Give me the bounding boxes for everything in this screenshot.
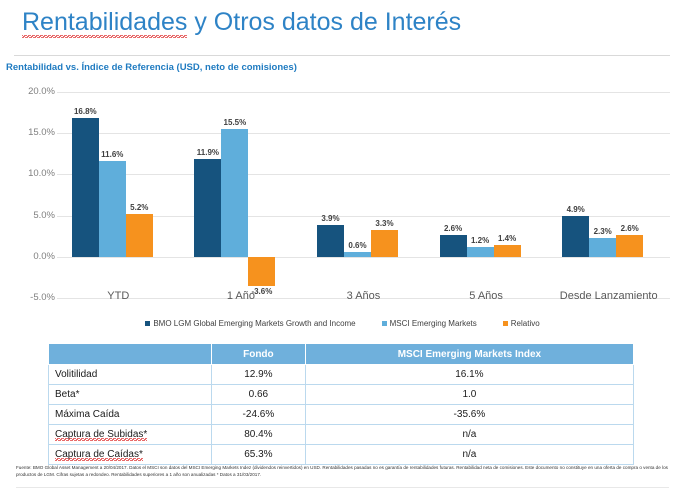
chart-bar-value-label: 1.4%: [489, 234, 526, 243]
table-cell-index-value: -35.6%: [305, 405, 633, 425]
y-axis-tick-label: -5.0%: [3, 292, 55, 303]
chart-bar: [562, 216, 589, 256]
table-body: Volitilidad12.9%16.1%Beta*0.661.0Máxima …: [49, 365, 634, 465]
footer-disclaimer: Fuente: BMO Global Asset Management a 20…: [16, 464, 671, 478]
chart-bar-value-label: 5.2%: [121, 203, 158, 212]
x-axis-category-label: YTD: [57, 290, 180, 302]
table-row: Captura de Subidas*80.4%n/a: [49, 425, 634, 445]
table-cell-fondo-value: 80.4%: [212, 425, 306, 445]
table-row: Máxima Caída-24.6%-35.6%: [49, 405, 634, 425]
legend-swatch-icon: [503, 321, 508, 326]
legend-swatch-icon: [382, 321, 387, 326]
table-cell-index-value: 1.0: [305, 385, 633, 405]
chart-bar-value-label: 4.9%: [557, 205, 594, 214]
x-axis-category-label: 1 Año: [180, 290, 303, 302]
table-header: Fondo MSCI Emerging Markets Index: [49, 344, 634, 365]
page-title: Rentabilidades y Otros datos de Interés: [22, 8, 461, 37]
title-divider: [14, 55, 670, 56]
legend-item[interactable]: MSCI Emerging Markets: [382, 319, 477, 328]
chart-bar-value-label: 2.6%: [435, 224, 472, 233]
table-header-index: MSCI Emerging Markets Index: [305, 344, 633, 365]
table-row: Beta*0.661.0: [49, 385, 634, 405]
chart-bar-value-label: 15.5%: [216, 118, 253, 127]
chart-bar-value-label: 2.6%: [611, 224, 648, 233]
chart-gridline: [57, 257, 670, 258]
page-title-part1: Rentabilidades: [22, 8, 187, 38]
chart-gridline: [57, 133, 670, 134]
chart-bar: [72, 118, 99, 256]
table-cell-metric-label: Beta*: [49, 385, 212, 405]
chart-gridline: [57, 92, 670, 93]
chart-bar-value-label: 16.8%: [67, 107, 104, 116]
chart-bar: [126, 214, 153, 257]
chart-legend: BMO LGM Global Emerging Markets Growth a…: [0, 316, 685, 330]
legend-item[interactable]: Relativo: [503, 319, 540, 328]
table-header-blank: [49, 344, 212, 365]
table-cell-metric-label: Volitilidad: [49, 365, 212, 385]
chart-bar-value-label: 3.9%: [312, 214, 349, 223]
chart-bar-value-label: 11.6%: [94, 150, 131, 159]
legend-item[interactable]: BMO LGM Global Emerging Markets Growth a…: [145, 319, 355, 328]
y-axis-tick-label: 10.0%: [3, 168, 55, 179]
table-cell-fondo-value: -24.6%: [212, 405, 306, 425]
table-row: Volitilidad12.9%16.1%: [49, 365, 634, 385]
chart-bar: [194, 159, 221, 257]
chart-bar: [371, 230, 398, 257]
table-header-row: Fondo MSCI Emerging Markets Index: [49, 344, 634, 365]
x-axis-category-label: Desde Lanzamiento: [547, 290, 670, 302]
legend-item-label: BMO LGM Global Emerging Markets Growth a…: [153, 319, 355, 328]
chart-bar: [494, 245, 521, 257]
chart-bar: [616, 235, 643, 256]
footer-divider: [16, 487, 669, 488]
chart-bar: [467, 247, 494, 257]
y-axis-tick-label: 20.0%: [3, 86, 55, 97]
table-header-fondo: Fondo: [212, 344, 306, 365]
page-title-part2: y Otros datos de Interés: [187, 8, 461, 36]
legend-item-label: MSCI Emerging Markets: [390, 319, 477, 328]
statistics-table: Fondo MSCI Emerging Markets Index Voliti…: [48, 343, 634, 465]
y-axis-tick-label: 5.0%: [3, 210, 55, 221]
y-axis-tick-label: 0.0%: [3, 251, 55, 262]
y-axis-tick-label: 15.0%: [3, 127, 55, 138]
table-cell-fondo-value: 12.9%: [212, 365, 306, 385]
chart-gridline: [57, 174, 670, 175]
chart-subtitle: Rentabilidad vs. Índice de Referencia (U…: [6, 62, 297, 73]
chart-bar-value-label: 3.3%: [366, 219, 403, 228]
table-cell-metric-label: Máxima Caída: [49, 405, 212, 425]
chart-bar: [589, 238, 616, 257]
performance-bar-chart: 20.0%15.0%10.0%5.0%0.0%-5.0%16.8%11.6%5.…: [0, 84, 685, 334]
table-cell-fondo-value: 0.66: [212, 385, 306, 405]
table-cell-index-value: 16.1%: [305, 365, 633, 385]
table-cell-metric-label: Captura de Subidas*: [49, 425, 212, 445]
table-cell-metric-label: Captura de Caídas*: [49, 445, 212, 465]
legend-item-label: Relativo: [511, 319, 540, 328]
table-cell-fondo-value: 65.3%: [212, 445, 306, 465]
table-cell-index-value: n/a: [305, 445, 633, 465]
legend-swatch-icon: [145, 321, 150, 326]
x-axis-category-label: 5 Años: [425, 290, 548, 302]
x-axis-category-label: 3 Años: [302, 290, 425, 302]
chart-bar: [248, 257, 275, 287]
chart-bar: [221, 129, 248, 257]
table-cell-index-value: n/a: [305, 425, 633, 445]
table-row: Captura de Caídas*65.3%n/a: [49, 445, 634, 465]
chart-bar: [344, 252, 371, 257]
